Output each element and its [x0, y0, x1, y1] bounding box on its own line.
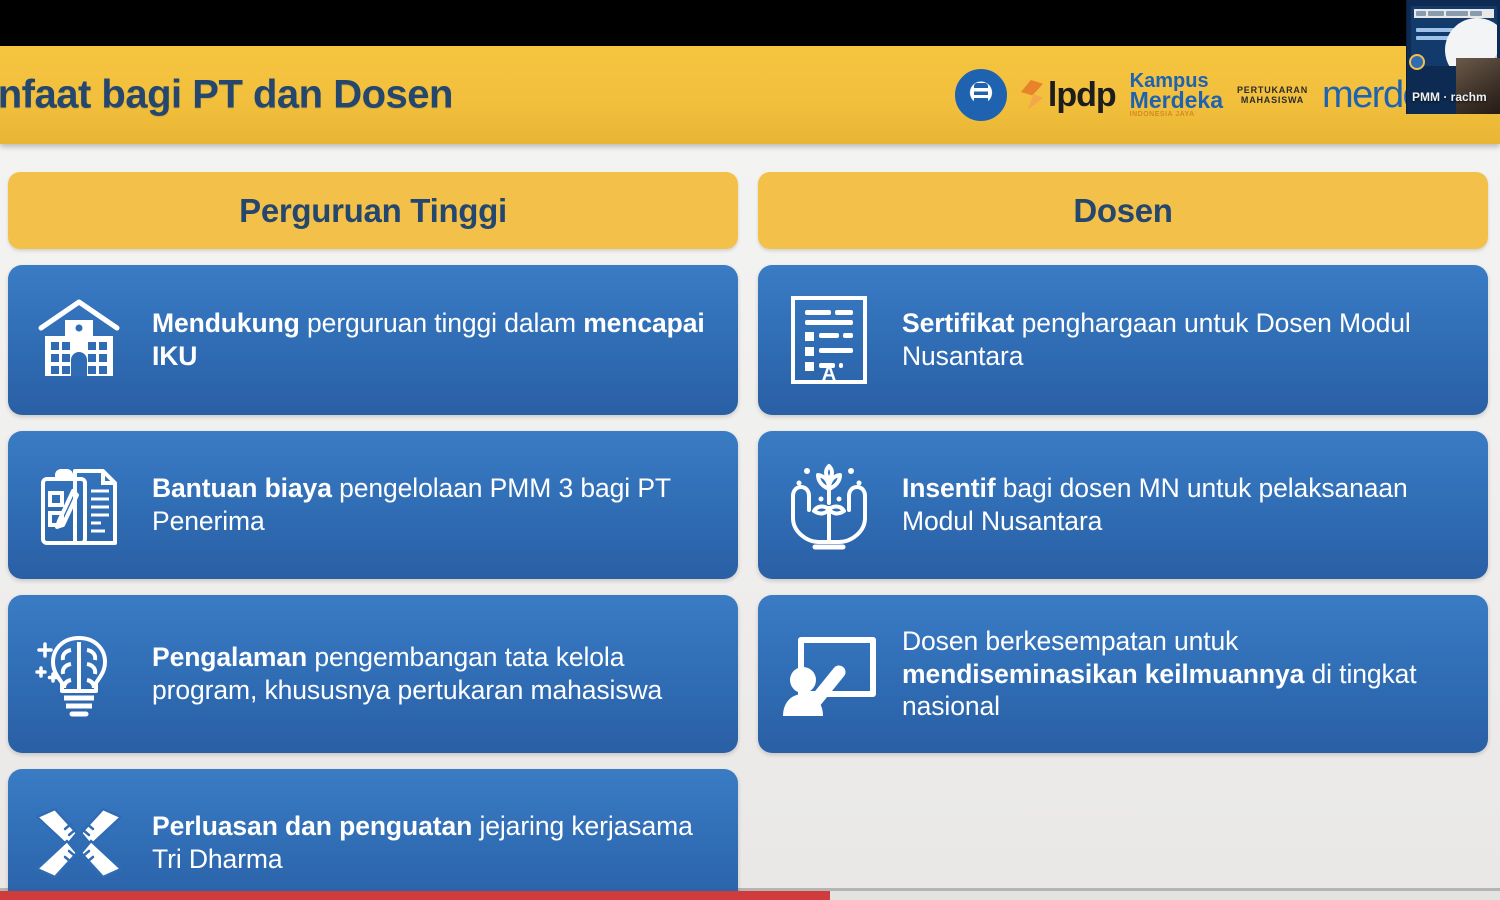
- pmm-line2: MAHASISWA: [1237, 95, 1308, 105]
- benefit-card[interactable]: Mendukung perguruan tinggi dalam mencapa…: [8, 265, 738, 415]
- logo-strip: lpdp Kampus Merdeka INDONESIA JAYA PERTU…: [955, 65, 1440, 125]
- pip-video-tile[interactable]: PMM · rachm: [1406, 0, 1500, 114]
- column-header-label: Perguruan Tinggi: [239, 192, 507, 230]
- benefit-bold-1: Mendukung: [152, 308, 300, 338]
- kemendikbud-logo-icon: [955, 69, 1007, 121]
- benefit-card-text: Mendukung perguruan tinggi dalam mencapa…: [152, 307, 720, 373]
- hands-plant-icon: [770, 457, 888, 553]
- column-header-label: Dosen: [1073, 192, 1172, 230]
- lpdp-flame-icon: [1021, 80, 1043, 110]
- benefits-columns: Perguruan Tinggi: [0, 172, 1500, 900]
- benefit-reg-1: perguruan tinggi dalam: [300, 308, 583, 338]
- benefit-card[interactable]: A Sertifikat penghargaan untuk Dosen Mod…: [758, 265, 1488, 415]
- benefit-bold-2: mendiseminasikan keilmuannya: [902, 659, 1304, 689]
- pmm-line1: PERTUKARAN: [1237, 85, 1308, 95]
- benefit-card-text: Bantuan biaya pengelolaan PMM 3 bagi PT …: [152, 472, 720, 538]
- benefit-card[interactable]: Dosen berkesempatan untuk mendiseminasik…: [758, 595, 1488, 753]
- certificate-icon: A: [770, 292, 888, 388]
- benefit-card-text: Insentif bagi dosen MN untuk pelaksanaan…: [902, 472, 1470, 538]
- benefit-bold-1: Pengalaman: [152, 642, 307, 672]
- column-header-dosen: Dosen: [758, 172, 1488, 249]
- benefit-card-text: Sertifikat penghargaan untuk Dosen Modul…: [902, 307, 1470, 373]
- page-title: anfaat bagi PT dan Dosen: [0, 73, 453, 118]
- benefit-bold-1: Bantuan biaya: [152, 473, 332, 503]
- benefit-card[interactable]: Insentif bagi dosen MN untuk pelaksanaan…: [758, 431, 1488, 579]
- column-dosen: Dosen: [758, 172, 1488, 900]
- column-perguruan-tinggi: Perguruan Tinggi: [8, 172, 738, 900]
- benefit-card-text: Perluasan dan penguatan jejaring kerjasa…: [152, 810, 720, 876]
- benefit-card-text: Dosen berkesempatan untuk mendiseminasik…: [902, 625, 1470, 724]
- brain-lightbulb-icon: [20, 626, 138, 722]
- clipboard-document-icon: [20, 457, 138, 553]
- slide-screen: anfaat bagi PT dan Dosen lpdp Kampus Mer…: [0, 0, 1500, 900]
- pip-chip: [1428, 11, 1444, 16]
- school-building-icon: [20, 292, 138, 388]
- benefit-card-text: Pengalaman pengembangan tata kelola prog…: [152, 641, 720, 707]
- benefit-card[interactable]: Bantuan biaya pengelolaan PMM 3 bagi PT …: [8, 431, 738, 579]
- video-progress-fill: [0, 891, 830, 900]
- pip-webcam-feed: [1456, 58, 1500, 114]
- benefit-reg-1: Dosen berkesempatan untuk: [902, 626, 1238, 656]
- video-progress-track[interactable]: [0, 891, 1500, 900]
- benefit-bold-1: Insentif: [902, 473, 995, 503]
- pip-chip: [1416, 11, 1426, 16]
- letterbox-top: [0, 0, 1500, 46]
- kampus-merdeka-logo: Kampus Merdeka INDONESIA JAYA: [1130, 72, 1223, 118]
- benefit-card[interactable]: Perluasan dan penguatan jejaring kerjasa…: [8, 769, 738, 900]
- lpdp-wordmark: lpdp: [1048, 78, 1116, 112]
- lpdp-logo: lpdp: [1021, 78, 1116, 112]
- presenter-whiteboard-icon: [770, 628, 888, 720]
- benefit-bold-1: Perluasan dan penguatan: [152, 811, 472, 841]
- pip-participant-label: PMM · rachm: [1412, 90, 1487, 104]
- svg-text:A: A: [822, 363, 836, 385]
- joined-hands-icon: [20, 795, 138, 891]
- kampus-line2: Merdeka: [1130, 90, 1223, 111]
- benefit-bold-1: Sertifikat: [902, 308, 1014, 338]
- pip-chip: [1470, 11, 1482, 16]
- pip-slide-logo-bar: [1414, 9, 1494, 18]
- pmm-wordmark: PERTUKARAN MAHASISWA: [1237, 85, 1308, 106]
- benefit-card[interactable]: Pengalaman pengembangan tata kelola prog…: [8, 595, 738, 753]
- pip-brand-badge: [1409, 54, 1425, 70]
- pip-chip: [1446, 11, 1468, 16]
- slide-title-banner: anfaat bagi PT dan Dosen lpdp Kampus Mer…: [0, 46, 1500, 144]
- column-header-perguruan-tinggi: Perguruan Tinggi: [8, 172, 738, 249]
